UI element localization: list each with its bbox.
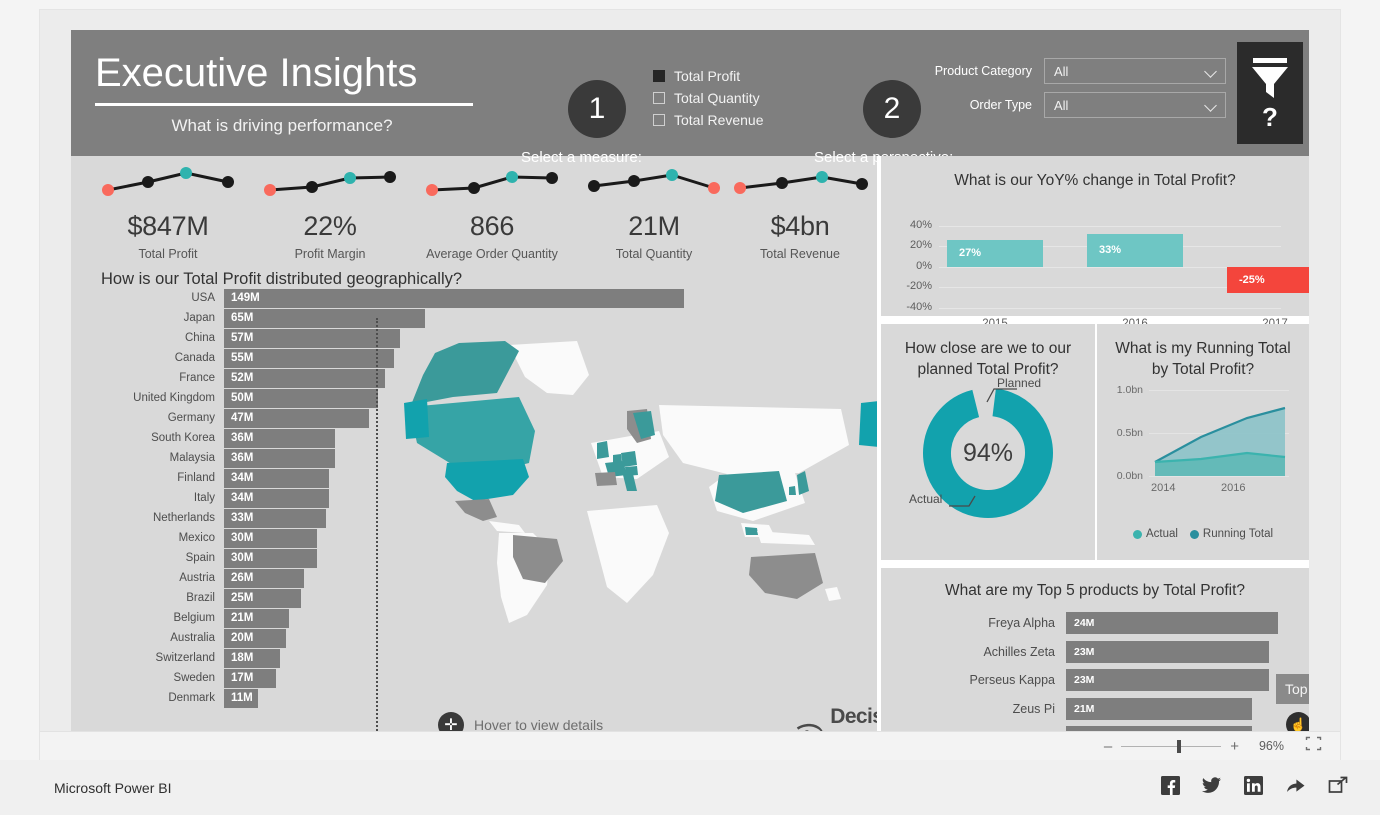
geo-bar-row[interactable]: Japan65M [71,308,425,328]
geo-bar[interactable]: 36M [224,449,335,468]
geo-category-label: Denmark [71,692,224,704]
geo-category-label: Sweden [71,672,224,684]
yoy-ytick: -40% [893,301,939,313]
geo-bar[interactable]: 11M [224,689,258,708]
geo-bar-row[interactable]: Austria26M [71,568,304,588]
page-title: Executive Insights [91,48,491,98]
geo-bar[interactable]: 47M [224,409,369,428]
running-total-card[interactable]: What is my Running Total by Total Profit… [1097,324,1309,560]
top5-category-label: Freya Alpha [881,616,1066,630]
kpi-card-profit-margin[interactable]: 22% Profit Margin [249,164,411,261]
measure-label: Total Revenue [674,112,764,128]
geo-category-label: Canada [71,352,224,364]
sparkline-average-order-quantity [418,164,566,204]
zoom-slider-thumb[interactable] [1177,740,1181,753]
kpi-card-total-profit[interactable]: $847M Total Profit [87,164,249,261]
top5-products-card[interactable]: What are my Top 5 products by Total Prof… [881,568,1309,740]
legend-dot-icon [1190,530,1199,539]
map-country-central-america [489,521,525,533]
help-filter-button[interactable]: ? [1237,42,1303,144]
geo-bar[interactable]: 20M [224,629,286,648]
geo-bar-value: 65M [231,312,253,324]
top5-bar[interactable]: 23M [1066,641,1269,663]
running-total-legend[interactable]: Actual Running Total [1097,528,1309,540]
geo-bar-row[interactable]: South Korea36M [71,428,335,448]
top5-bar[interactable]: 24M [1066,612,1278,634]
map-country-canada-north [411,341,519,405]
geo-bar-row[interactable]: Spain30M [71,548,317,568]
map-country-new-zealand [825,587,841,601]
measure-item-total-revenue[interactable]: Total Revenue [653,109,764,130]
geo-category-label: Spain [71,552,224,564]
yoy-bar-2015[interactable]: 27% [947,240,1043,268]
geo-bar-row[interactable]: Sweden17M [71,668,276,688]
yoy-ytick: 20% [893,239,939,251]
map-country-africa [587,505,669,603]
geo-bar[interactable]: 57M [224,329,400,348]
geo-bar[interactable]: 30M [224,529,317,548]
power-bi-brand-label: Microsoft Power BI [54,780,171,796]
geo-bar-row[interactable]: USA149M [71,288,684,308]
zoom-out-button[interactable]: – [1104,738,1112,755]
geo-bar-value: 36M [231,432,253,444]
kpi-strip: $847M Total Profit 22% Profit Margin [71,156,881,266]
geo-bar-value: 57M [231,332,253,344]
map-country-usa [445,459,529,501]
map-country-south-korea [789,486,796,495]
top5-bar-value: 23M [1074,646,1094,658]
open-new-window-icon[interactable] [1328,776,1348,800]
chevron-down-icon[interactable] [1206,100,1217,111]
kpi-label: Total Profit [87,247,249,261]
geo-bar-row[interactable]: Germany47M [71,408,369,428]
kpi-card-total-quantity[interactable]: 21M Total Quantity [573,164,735,261]
geo-bar[interactable]: 17M [224,669,276,688]
geo-bar[interactable]: 149M [224,289,684,308]
slicer-dropdown[interactable]: All [1044,58,1226,84]
slicer-product-category[interactable]: Product Category All [926,58,1226,84]
slicer-order-type[interactable]: Order Type All [926,92,1226,118]
donut-label-planned: Planned [997,376,1041,390]
geo-bar[interactable]: 18M [224,649,280,668]
rt-xtick: 2016 [1221,482,1245,494]
kpi-value: 866 [411,211,573,242]
geo-bar-value: 33M [231,512,253,524]
top5-bar-row[interactable]: Zeus Pi21M [881,698,1252,720]
geo-bar-value: 149M [231,292,260,304]
rt-xtick: 2014 [1151,482,1175,494]
top5-bar-row[interactable]: Perseus Kappa23M [881,669,1269,691]
fit-to-page-icon [1305,736,1322,751]
kpi-value: $847M [87,211,249,242]
map-country-malaysia [745,527,758,535]
average-reference-line [376,318,378,738]
page-subtitle: What is driving performance? [91,116,473,136]
geo-bar-value: 30M [231,552,253,564]
geo-bar[interactable]: 30M [224,549,317,568]
geo-bar[interactable]: 34M [224,469,329,488]
geo-bar-value: 26M [231,572,253,584]
geo-bar-row[interactable]: Malaysia36M [71,448,335,468]
running-total-plot-area: 1.0bn 0.5bn 0.0bn [1149,390,1289,476]
geo-bar[interactable]: 21M [224,609,289,628]
geo-category-label: USA [71,292,224,304]
geo-bar-value: 25M [231,592,253,604]
geo-bar[interactable]: 25M [224,589,301,608]
kpi-card-total-revenue[interactable]: $4bn Total Revenue [719,164,881,261]
donut-leader-line-actual [947,494,977,510]
top5-bar-value: 21M [1074,703,1094,715]
geo-bar-value: 18M [231,652,253,664]
title-underline [95,103,473,106]
zoom-in-button[interactable]: + [1230,738,1239,755]
donut-chart-title: How close are we to our planned Total Pr… [891,338,1085,380]
map-country-netherlands [613,454,622,463]
power-bi-report-page: Executive Insights What is driving perfo… [0,0,1380,815]
map-country-greenland [509,341,589,395]
card-divider-top5 [877,560,1309,568]
top5-category-label: Achilles Zeta [881,645,1066,659]
running-total-area-svg[interactable] [1149,390,1289,476]
map-country-alaska [404,399,429,439]
geo-bar-value: 36M [231,452,253,464]
geo-category-label: China [71,332,224,344]
linkedin-icon[interactable] [1244,776,1263,800]
map-country-australia [749,553,823,599]
slicer-label: Product Category [926,64,1044,78]
top5-category-label: Zeus Pi [881,702,1066,716]
legend-dot-icon [1133,530,1142,539]
kpi-value: $4bn [719,211,881,242]
geo-chart-title: How is our Total Profit distributed geog… [101,270,462,289]
legend-label: Actual [1146,528,1178,540]
geo-bar-value: 55M [231,352,253,364]
yoy-bar-2017[interactable]: -25% [1227,267,1309,293]
step-2-badge: 2 [863,80,921,138]
sparkline-total-quantity [580,164,728,204]
kpi-value: 21M [573,211,735,242]
yoy-ytick: 0% [893,260,939,272]
kpi-label: Total Quantity [573,247,735,261]
yoy-chart-card[interactable]: What is our YoY% change in Total Profit?… [881,156,1309,316]
geo-bar-value: 34M [231,472,253,484]
rt-ytick: 1.0bn [1103,384,1149,396]
twitter-icon[interactable] [1202,776,1222,800]
fit-to-page-button[interactable] [1305,736,1322,756]
slicer-value: All [1054,64,1068,79]
geo-bar-row[interactable]: Italy34M [71,488,329,508]
top5-bar[interactable]: 23M [1066,669,1269,691]
report-header: Executive Insights What is driving perfo… [71,30,1309,156]
top-n-slicer[interactable]: Top 5 [1276,674,1309,704]
rt-ytick: 0.5bn [1103,427,1149,439]
top5-bar-row[interactable]: Freya Alpha24M [881,612,1278,634]
donut-label-actual: Actual [909,492,942,506]
question-mark-icon: ? [1262,104,1278,130]
geo-bar-row[interactable]: Brazil25M [71,588,301,608]
geo-bar-row[interactable]: China57M [71,328,400,348]
yoy-bar-2016[interactable]: 33% [1087,234,1183,268]
geo-category-label: Brazil [71,592,224,604]
measure-item-total-quantity[interactable]: Total Quantity [653,87,764,108]
map-country-spain [595,472,617,486]
map-region-indonesia [757,531,815,545]
geo-category-label: Japan [71,312,224,324]
social-share-group[interactable] [1161,776,1348,800]
top5-bar-chart[interactable]: Freya Alpha24MAchilles Zeta23MPerseus Ka… [881,612,1309,740]
geo-bar[interactable]: 34M [224,489,329,508]
zoom-slider[interactable] [1121,746,1221,747]
geo-category-label: Australia [71,632,224,644]
geo-bar-value: 30M [231,532,253,544]
bottom-bar: Microsoft Power BI [0,760,1380,815]
slicer-value: All [1054,98,1068,113]
report-frame: Executive Insights What is driving perfo… [40,10,1340,760]
kpi-card-average-order-quantity[interactable]: 866 Average Order Quantity [411,164,573,261]
sparkline-total-profit [94,164,242,204]
rt-ytick: 0.0bn [1103,470,1149,482]
geo-category-label: Malaysia [71,452,224,464]
top5-category-label: Perseus Kappa [881,673,1066,687]
geo-bar-row[interactable]: Belgium21M [71,608,289,628]
geo-category-label: South Korea [71,432,224,444]
geo-category-label: Netherlands [71,512,224,524]
map-country-mexico [455,499,497,521]
geo-category-label: Switzerland [71,652,224,664]
running-total-title: What is my Running Total by Total Profit… [1111,338,1295,380]
step-1-badge: 1 [568,80,626,138]
top5-bar-row[interactable]: Achilles Zeta23M [881,641,1269,663]
top5-bar-value: 23M [1074,674,1094,686]
checkbox-checked-icon[interactable] [653,70,665,82]
geo-bar[interactable]: 50M [224,389,378,408]
slicer-label: Order Type [926,98,1044,112]
zoom-control[interactable]: – + 96% [1104,736,1322,756]
geo-bar-row[interactable]: Switzerland18M [71,648,280,668]
geo-bar-row[interactable]: Canada55M [71,348,394,368]
facebook-icon[interactable] [1161,776,1180,800]
geo-bar-value: 52M [231,372,253,384]
chevron-down-icon[interactable] [1206,66,1217,77]
sparkline-profit-margin [256,164,404,204]
slicer-group: Product Category All Order Type All [926,58,1226,126]
geo-bar-row[interactable]: France52M [71,368,385,388]
geo-bar-row[interactable]: Mexico30M [71,528,317,548]
sparkline-total-revenue [726,164,874,204]
funnel-icon [1250,56,1290,102]
status-bar: – + 96% [40,731,1340,760]
top-n-slicer-value: Top 5 [1285,681,1309,697]
geo-bar-row[interactable]: United Kingdom50M [71,388,378,408]
geo-bar-row[interactable]: Denmark11M [71,688,258,708]
geo-category-label: Austria [71,572,224,584]
zoom-level-label: 96% [1248,739,1284,753]
yoy-chart-title: What is our YoY% change in Total Profit? [881,172,1309,190]
geo-bar-value: 11M [231,692,253,704]
checkbox-empty-icon[interactable] [653,114,665,126]
kpi-label: Average Order Quantity [411,247,573,261]
geo-bar[interactable]: 33M [224,509,326,528]
yoy-bar-label: -25% [1227,274,1265,286]
geo-bar-row[interactable]: Australia20M [71,628,286,648]
top5-bar[interactable]: 21M [1066,698,1252,720]
share-icon[interactable] [1285,776,1306,800]
geo-bar-value: 20M [231,632,253,644]
legend-label: Running Total [1203,528,1273,540]
geo-category-label: United Kingdom [71,392,224,404]
kpi-label: Total Revenue [719,247,881,261]
geo-bar-value: 34M [231,492,253,504]
measure-checkbox-group[interactable]: Total Profit Total Quantity Total Revenu… [653,65,764,131]
legend-item-running-total[interactable]: Running Total [1190,528,1273,540]
measure-label: Total Profit [674,68,740,84]
map-country-alaska-wrap [859,401,879,447]
world-map-svg[interactable] [401,320,881,650]
donut-chart-card[interactable]: How close are we to our planned Total Pr… [881,324,1095,560]
geo-bar-row[interactable]: Netherlands33M [71,508,326,528]
geo-bar-value: 17M [231,672,253,684]
geo-bar-row[interactable]: Finland34M [71,468,329,488]
geo-bar-value: 47M [231,412,253,424]
yoy-bar-label: 33% [1087,244,1121,256]
geo-category-label: Finland [71,472,224,484]
yoy-plot-area: 40% 20% 0% -20% -40% 27% 33% [939,226,1281,308]
kpi-value: 22% [249,211,411,242]
measure-item-total-profit[interactable]: Total Profit [653,65,764,86]
geo-bar-value: 50M [231,392,253,404]
geo-category-label: France [71,372,224,384]
map-country-japan [797,471,809,495]
report-canvas: Executive Insights What is driving perfo… [71,30,1309,740]
title-block: Executive Insights What is driving perfo… [91,48,491,136]
geo-bar[interactable]: 55M [224,349,394,368]
slicer-dropdown[interactable]: All [1044,92,1226,118]
world-map-visual[interactable]: ✛ Hover to view details Decisive Data in… [401,320,881,735]
map-region-russia-asia [659,405,849,475]
geo-category-label: Germany [71,412,224,424]
checkbox-empty-icon[interactable] [653,92,665,104]
top5-chart-title: What are my Top 5 products by Total Prof… [881,582,1309,600]
yoy-ytick: 40% [893,219,939,231]
geo-bar[interactable]: 65M [224,309,425,328]
measure-label: Total Quantity [674,90,760,106]
yoy-bar-label: 27% [947,247,981,259]
yoy-ytick: -20% [893,280,939,292]
legend-item-actual[interactable]: Actual [1133,528,1178,540]
geo-bar[interactable]: 52M [224,369,385,388]
map-country-germany [621,451,637,467]
top5-bar-value: 24M [1074,617,1094,629]
geo-category-label: Mexico [71,532,224,544]
geo-bar[interactable]: 26M [224,569,304,588]
geo-category-label: Italy [71,492,224,504]
kpi-label: Profit Margin [249,247,411,261]
geo-bar-value: 21M [231,612,253,624]
geo-bar[interactable]: 36M [224,429,335,448]
map-country-united-kingdom [597,441,609,459]
geo-category-label: Belgium [71,612,224,624]
